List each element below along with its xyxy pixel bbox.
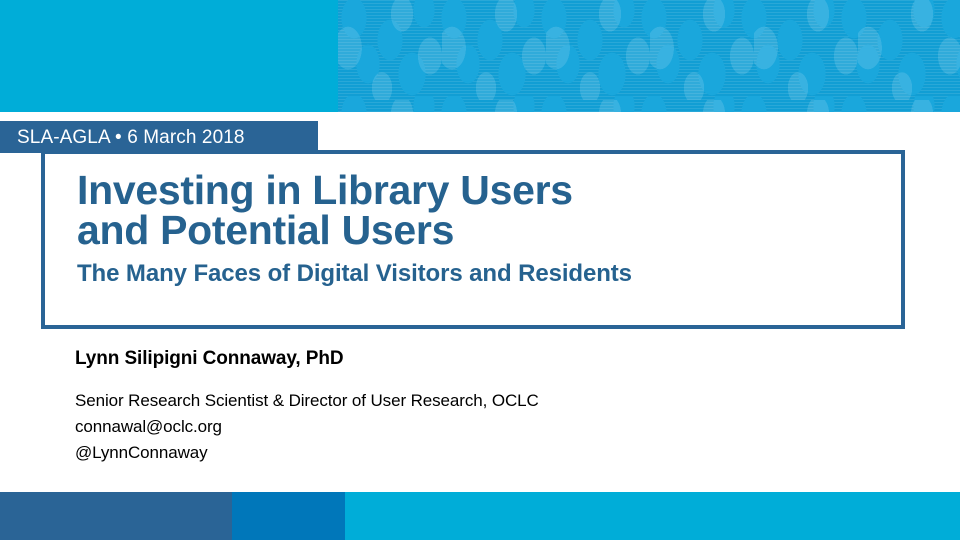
presenter-twitter-handle: @LynnConnaway <box>75 440 895 466</box>
title-box: Investing in Library Users and Potential… <box>41 150 905 329</box>
presenter-name: Lynn Silipigni Connaway, PhD <box>75 348 895 370</box>
presenter-email: connawal@oclc.org <box>75 414 895 440</box>
event-date-label: SLA-AGLA • 6 March 2018 <box>17 128 245 147</box>
title-line-1: Investing in Library Users <box>77 170 901 210</box>
slide-subtitle: The Many Faces of Digital Visitors and R… <box>77 259 901 289</box>
top-color-band <box>0 0 960 112</box>
bottom-bar-segment-mid <box>232 492 345 540</box>
bottom-color-bar <box>0 492 960 540</box>
event-date-tab: SLA-AGLA • 6 March 2018 <box>0 121 318 153</box>
title-line-2: and Potential Users <box>77 210 901 250</box>
bottom-bar-segment-dark <box>0 492 232 540</box>
top-band-pattern-overlay <box>338 0 960 112</box>
presenter-details: Senior Research Scientist & Director of … <box>75 388 895 466</box>
presentation-slide: SLA-AGLA • 6 March 2018 Investing in Lib… <box>0 0 960 540</box>
bottom-bar-segment-cyan <box>345 492 960 540</box>
presenter-block: Lynn Silipigni Connaway, PhD Senior Rese… <box>75 348 895 466</box>
presenter-role: Senior Research Scientist & Director of … <box>75 388 895 414</box>
